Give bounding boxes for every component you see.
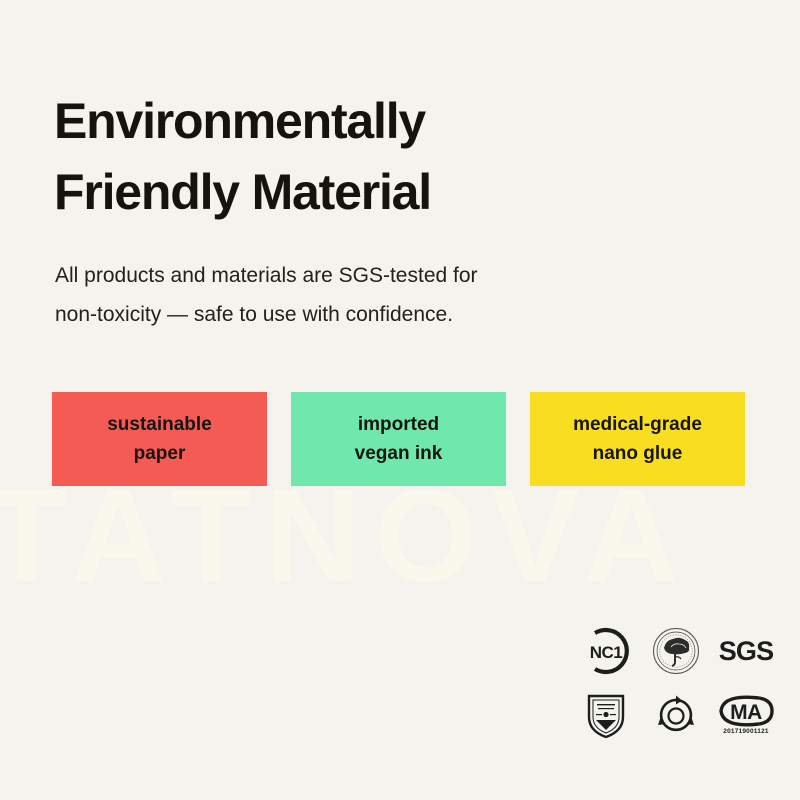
chip-label-line-1: sustainable	[107, 410, 212, 439]
cma-certificate-number: 201719001121	[723, 729, 768, 736]
nc1-circle-badge-icon: NC1	[573, 622, 639, 680]
sgs-wordmark-icon: SGS	[713, 622, 779, 680]
svg-text:SGS: SGS	[719, 636, 774, 666]
chip-label-line-1: imported	[358, 410, 439, 439]
material-chip-sustainable-paper: sustainable paper	[52, 392, 267, 486]
eco-material-card: TATNOVA Environmentally Friendly Materia…	[0, 0, 800, 800]
material-chip-list: sustainable paper imported vegan ink med…	[52, 392, 745, 486]
certification-badge-grid: NC1 SGS	[572, 622, 780, 744]
material-chip-vegan-ink: imported vegan ink	[291, 392, 506, 486]
chip-label-line-1: medical-grade	[573, 410, 702, 439]
description-line-1: All products and materials are SGS-teste…	[55, 257, 655, 296]
material-chip-nano-glue: medical-grade nano glue	[530, 392, 745, 486]
shield-badge-icon	[573, 686, 639, 744]
page-title: Environmentally Friendly Material	[54, 86, 714, 228]
chip-label-line-2: nano glue	[593, 439, 683, 468]
page-title-line-2: Friendly Material	[54, 157, 714, 228]
chip-label-line-2: vegan ink	[355, 439, 443, 468]
brand-watermark: TATNOVA	[0, 470, 800, 602]
description-text: All products and materials are SGS-teste…	[55, 257, 655, 335]
chip-label-line-2: paper	[134, 439, 186, 468]
recycling-loop-icon	[643, 686, 709, 744]
svg-text:MA: MA	[730, 701, 762, 724]
tree-seal-badge-icon	[643, 622, 709, 680]
svg-text:NC1: NC1	[590, 643, 623, 662]
description-line-2: non-toxicity — safe to use with confiden…	[55, 296, 655, 335]
cma-oval-mark-icon: MA 201719001121	[713, 686, 779, 744]
page-title-line-1: Environmentally	[54, 86, 714, 157]
